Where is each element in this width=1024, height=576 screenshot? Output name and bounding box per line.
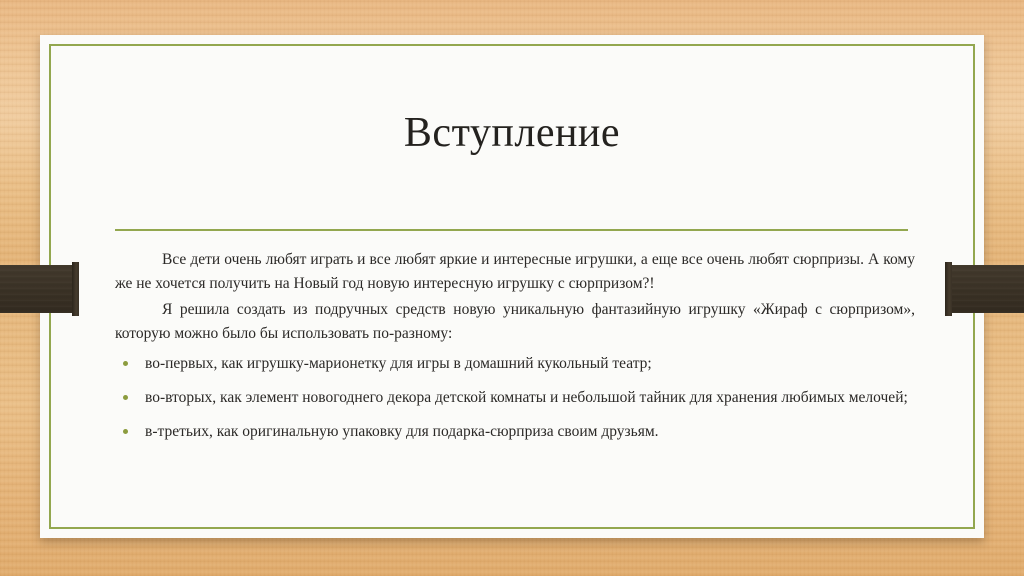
list-item: во-первых, как игрушку-марионетку для иг… [115, 352, 915, 376]
list-item-label: во-вторых, как элемент новогоднего декор… [145, 386, 915, 410]
bullet-dot-icon [123, 361, 128, 366]
intro-paragraph-2: Я решила создать из подручных средств но… [115, 298, 915, 345]
list-item: в-третьих, как оригинальную упаковку для… [115, 420, 915, 444]
title-divider-rule [115, 229, 908, 231]
slide-stage: Вступление Все дети очень любят играть и… [0, 0, 1024, 576]
bullet-dot-icon [123, 429, 128, 434]
ribbon-tab-right [945, 265, 1024, 313]
ribbon-tab-left [0, 265, 79, 313]
list-item-label: во-первых, как игрушку-марионетку для иг… [145, 352, 915, 376]
bullet-dot-icon [123, 395, 128, 400]
slide-title: Вступление [40, 112, 984, 154]
intro-paragraph-1: Все дети очень любят играть и все любят … [115, 248, 915, 295]
list-item-label: в-третьих, как оригинальную упаковку для… [145, 420, 915, 444]
list-item: во-вторых, как элемент новогоднего декор… [115, 386, 915, 410]
slide-body: Все дети очень любят играть и все любят … [115, 248, 915, 444]
bullet-list: во-первых, как игрушку-марионетку для иг… [115, 352, 915, 444]
slide-content: Вступление Все дети очень любят играть и… [40, 35, 984, 538]
ribbon-cap-left [72, 262, 79, 316]
slide-card: Вступление Все дети очень любят играть и… [40, 35, 984, 538]
ribbon-cap-right [945, 262, 952, 316]
